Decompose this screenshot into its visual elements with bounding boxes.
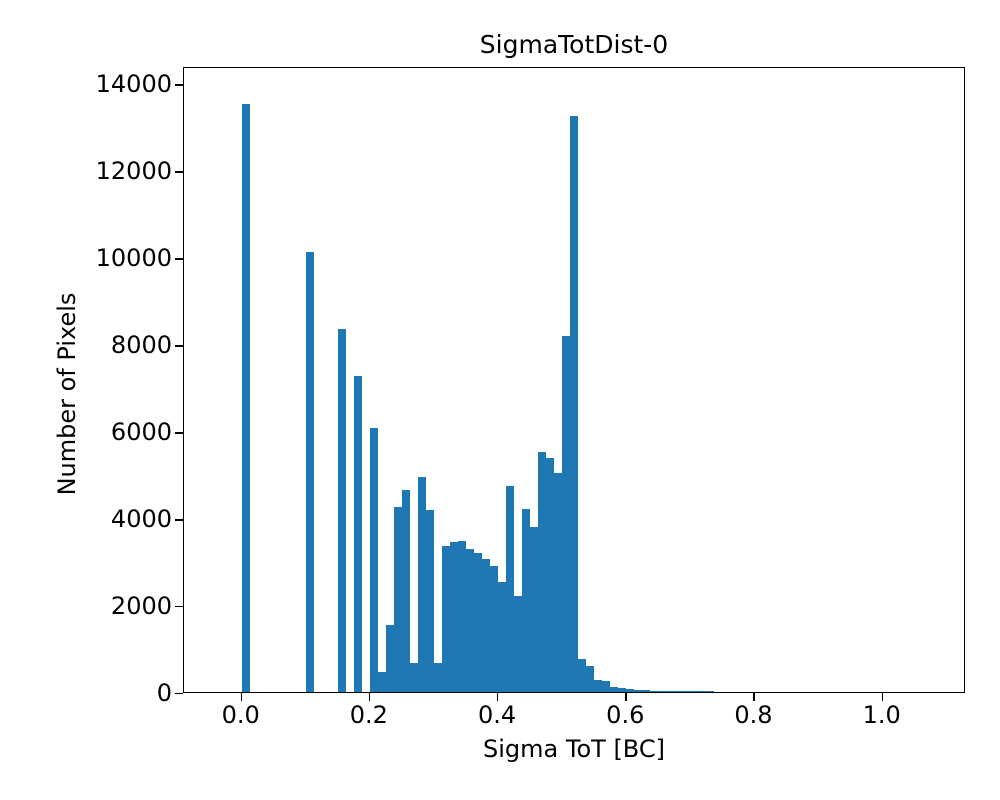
y-tick-label: 12000 <box>22 159 172 183</box>
y-tick-mark <box>175 606 183 607</box>
histogram-bar <box>482 559 490 692</box>
y-tick-label: 4000 <box>22 507 172 531</box>
x-tick-mark <box>753 693 754 701</box>
x-tick-mark <box>625 693 626 701</box>
plot-area <box>183 67 965 693</box>
histogram-bar <box>610 687 618 692</box>
x-tick-label: 0.8 <box>693 700 813 730</box>
histogram-bar <box>642 690 650 692</box>
x-axis-label: Sigma ToT [BC] <box>183 735 965 763</box>
histogram-bar <box>522 509 530 692</box>
histogram-figure: SigmaTotDist-0 Number of Pixels 02000400… <box>0 0 1000 800</box>
histogram-bar <box>450 542 458 692</box>
histogram-bar <box>554 473 562 692</box>
histogram-bar <box>402 490 410 692</box>
y-tick-mark <box>175 519 183 520</box>
chart-title: SigmaTotDist-0 <box>183 30 965 60</box>
histogram-bar <box>498 582 506 692</box>
x-tick-mark <box>497 693 498 701</box>
x-tick-label: 0.2 <box>309 700 429 730</box>
histogram-bar <box>650 691 658 692</box>
y-tick-label: 2000 <box>22 594 172 618</box>
histogram-bar <box>666 691 674 692</box>
histogram-bar <box>562 336 570 692</box>
x-tick-label: 0.0 <box>181 700 301 730</box>
histogram-bar <box>378 672 386 692</box>
x-tick-label: 0.6 <box>565 700 685 730</box>
x-axis-tick-labels: 0.00.20.40.60.81.0 <box>0 700 1000 740</box>
histogram-bar <box>690 691 698 692</box>
histogram-bar <box>474 553 482 692</box>
histogram-bar <box>594 680 602 692</box>
histogram-bar <box>458 541 466 692</box>
histogram-bar <box>626 689 634 692</box>
y-tick-mark <box>175 693 183 694</box>
y-tick-label: 6000 <box>22 420 172 444</box>
x-tick-mark <box>369 693 370 701</box>
x-tick-label: 0.4 <box>437 700 557 730</box>
y-tick-label: 14000 <box>22 72 172 96</box>
histogram-bar <box>578 659 586 692</box>
histogram-bar <box>682 691 690 692</box>
x-tick-mark <box>241 693 242 701</box>
histogram-bar <box>306 252 314 692</box>
y-tick-label: 8000 <box>22 333 172 357</box>
histogram-bar <box>698 691 706 692</box>
histogram-bar <box>514 596 522 693</box>
histogram-bar <box>634 690 642 692</box>
histogram-bar <box>370 428 378 692</box>
histogram-bar <box>386 625 394 692</box>
histogram-bar <box>538 452 546 692</box>
histogram-bars <box>184 68 964 692</box>
histogram-bar <box>586 666 594 692</box>
histogram-bar <box>530 527 538 692</box>
histogram-bar <box>570 116 578 692</box>
y-tick-mark <box>175 258 183 259</box>
y-tick-mark <box>175 345 183 346</box>
histogram-bar <box>706 691 714 692</box>
histogram-bar <box>410 663 418 692</box>
histogram-bar <box>490 566 498 692</box>
histogram-bar <box>658 691 666 692</box>
histogram-bar <box>674 691 682 692</box>
x-tick-label: 1.0 <box>822 700 942 730</box>
histogram-bar <box>354 376 362 692</box>
y-tick-mark <box>175 84 183 85</box>
histogram-bar <box>618 688 626 692</box>
histogram-bar <box>426 510 434 692</box>
histogram-bar <box>442 546 450 692</box>
histogram-bar <box>434 663 442 692</box>
y-axis-tick-labels: 02000400060008000100001200014000 <box>0 0 172 800</box>
histogram-bar <box>242 104 250 692</box>
histogram-bar <box>506 486 514 692</box>
histogram-bar <box>394 507 402 692</box>
histogram-bar <box>546 458 554 692</box>
histogram-bar <box>418 477 426 692</box>
x-tick-mark <box>882 693 883 701</box>
y-tick-label: 10000 <box>22 246 172 270</box>
y-tick-mark <box>175 171 183 172</box>
histogram-bar <box>602 681 610 692</box>
y-tick-mark <box>175 432 183 433</box>
histogram-bar <box>466 549 474 692</box>
histogram-bar <box>338 329 346 692</box>
